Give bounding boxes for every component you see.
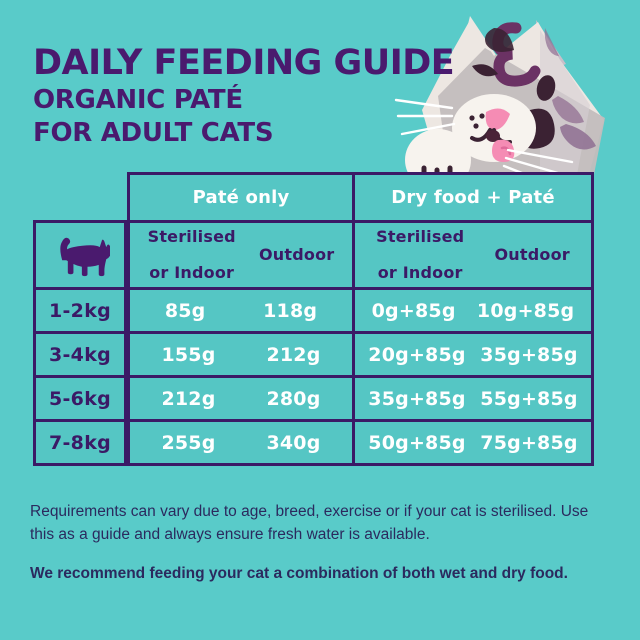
row-mixed-values: 50g+85g 75g+85g (352, 419, 594, 466)
subheader-outdoor-pate: Outdoor (259, 246, 334, 264)
table-row: 7-8kg 255g 340g 50g+85g 75g+85g (33, 419, 594, 466)
cat-eye-right (534, 73, 558, 103)
whisker-dot (473, 123, 478, 128)
row-pate-values: 155g 212g (127, 331, 355, 378)
footer-paragraph-2: We recommend feeding your cat a combinat… (30, 562, 610, 585)
cat-ear-right (536, 20, 566, 74)
row-mixed-values: 0g+85g 10g+85g (352, 287, 594, 334)
cell-mixed-outdoor: 10g+85g (477, 300, 574, 322)
footer-paragraph-1: Requirements can vary due to age, breed,… (30, 500, 610, 546)
cell-mixed-indoor: 50g+85g (368, 432, 465, 454)
cell-mixed-outdoor: 35g+85g (480, 344, 577, 366)
cat-forehead-marking (498, 28, 535, 81)
cell-mixed-indoor: 35g+85g (368, 388, 465, 410)
cat-mouth-left (472, 130, 490, 140)
subheader-dry-plus-pate: Sterilised or Indoor Outdoor (352, 220, 594, 290)
table-row: 3-4kg 155g 212g 20g+85g 35g+85g (33, 331, 594, 378)
subheader-sterilised-indoor-pate: Sterilised or Indoor (148, 228, 236, 282)
cell-pate-outdoor: 340g (266, 432, 320, 454)
cat-fur-shading (438, 22, 605, 190)
page-title: DAILY FEEDING GUIDE (33, 44, 454, 82)
row-weight-label: 5-6kg (33, 375, 127, 422)
cat-cheek-patch (517, 109, 555, 149)
row-weight-label: 7-8kg (33, 419, 127, 466)
page-subtitle-line2: FOR ADULT CATS (33, 119, 454, 148)
subheader-line1: Sterilised (148, 228, 236, 246)
subheader-pate-only: Sterilised or Indoor Outdoor (127, 220, 355, 290)
table-cat-icon-cell (33, 220, 127, 290)
row-pate-values: 255g 340g (127, 419, 355, 466)
subheader-line2: or Indoor (376, 264, 464, 282)
feeding-guide-table: Paté only Dry food + Paté Sterilised or … (33, 172, 594, 480)
footer-notes: Requirements can vary due to age, breed,… (30, 500, 610, 585)
cell-mixed-indoor: 0g+85g (372, 300, 456, 322)
cell-mixed-outdoor: 75g+85g (480, 432, 577, 454)
cell-pate-outdoor: 212g (266, 344, 320, 366)
whisker-dot (469, 115, 474, 120)
cat-tongue (492, 140, 514, 162)
subheader-sterilised-indoor-mixed: Sterilised or Indoor (376, 228, 464, 282)
cat-mouth-right (494, 130, 510, 142)
table-row: 1-2kg 85g 118g 0g+85g 10g+85g (33, 287, 594, 334)
group-header-pate-only: Paté only (127, 172, 355, 223)
subheader-line2: or Indoor (148, 264, 236, 282)
cell-pate-outdoor: 118g (263, 300, 317, 322)
row-mixed-values: 20g+85g 35g+85g (352, 331, 594, 378)
cell-pate-indoor: 255g (161, 432, 215, 454)
cell-mixed-outdoor: 55g+85g (480, 388, 577, 410)
group-header-dry-plus-pate: Dry food + Paté (352, 172, 594, 223)
table-row: 5-6kg 212g 280g 35g+85g 55g+85g (33, 375, 594, 422)
row-mixed-values: 35g+85g 55g+85g (352, 375, 594, 422)
cat-ear-left (458, 16, 498, 66)
subheader-line1: Sterilised (376, 228, 464, 246)
whisker-dot (479, 113, 484, 118)
cell-pate-outdoor: 280g (266, 388, 320, 410)
cell-pate-indoor: 212g (161, 388, 215, 410)
cat-tongue-line (502, 148, 510, 154)
table-corner-blank (33, 172, 127, 223)
page-subtitle-line1: ORGANIC PATÉ (33, 86, 454, 115)
walking-cat-icon (50, 232, 110, 279)
cat-nose (486, 108, 510, 130)
page-title-block: DAILY FEEDING GUIDE ORGANIC PATÉ FOR ADU… (33, 44, 454, 148)
cat-mouth (486, 130, 500, 142)
row-pate-values: 85g 118g (127, 287, 355, 334)
subheader-outdoor-mixed: Outdoor (495, 246, 570, 264)
cell-pate-indoor: 155g (161, 344, 215, 366)
cat-forehead-patch (485, 28, 514, 52)
table-group-header-row: Paté only Dry food + Paté (33, 172, 594, 223)
cat-muzzle (452, 94, 536, 162)
row-weight-label: 1-2kg (33, 287, 127, 334)
row-weight-label: 3-4kg (33, 331, 127, 378)
cell-pate-indoor: 85g (165, 300, 206, 322)
cell-mixed-indoor: 20g+85g (368, 344, 465, 366)
table-subheader-row: Sterilised or Indoor Outdoor Sterilised … (33, 220, 594, 290)
cat-eye-left (472, 64, 498, 76)
row-pate-values: 212g 280g (127, 375, 355, 422)
